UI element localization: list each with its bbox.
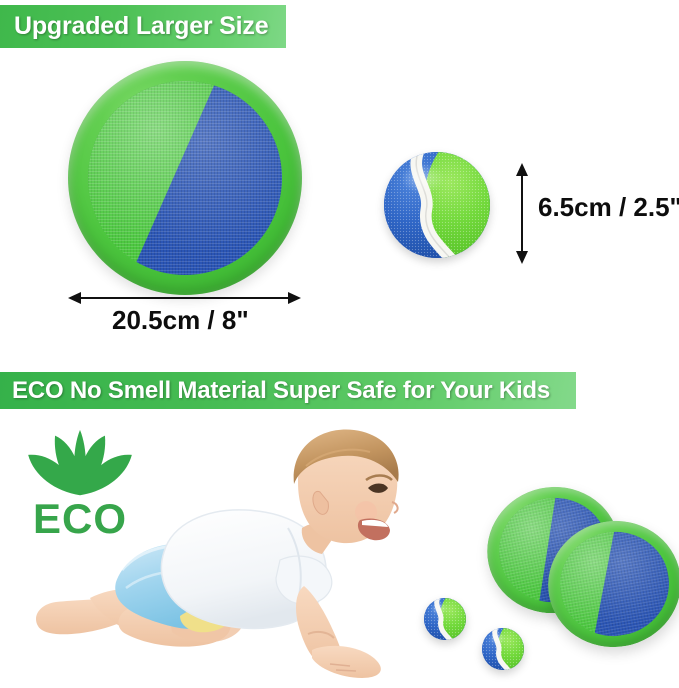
dimension-height-arrow-down-icon (516, 251, 528, 264)
dimension-width-arrow-right-icon (288, 292, 301, 304)
baby-illustration (30, 420, 405, 683)
dimension-height-arrow-up-icon (516, 163, 528, 176)
banner-upgraded-larger-size: Upgraded Larger Size (0, 5, 286, 48)
paddle-large (68, 61, 302, 295)
banner-mid-label: ECO No Smell Material Super Safe for You… (12, 377, 550, 405)
banner-top-label: Upgraded Larger Size (14, 12, 268, 41)
ball-small-1 (424, 598, 466, 640)
baby-photo (30, 420, 405, 683)
dimension-width-arrow-left-icon (68, 292, 81, 304)
ball-large (384, 152, 490, 258)
baby-right-hand (312, 646, 381, 678)
dimension-width-line (80, 297, 288, 299)
ball-small-1-highlight (431, 602, 449, 615)
paddle-small-front-face (552, 524, 677, 645)
dimension-width-label: 20.5cm / 8" (112, 305, 249, 336)
paddle-large-face (88, 81, 282, 275)
ball-small-2-highlight (489, 632, 507, 645)
dimension-height-label: 6.5cm / 2.5" (538, 192, 679, 223)
banner-eco-no-smell-material: ECO No Smell Material Super Safe for You… (0, 372, 576, 409)
ball-small-2 (482, 628, 524, 670)
dimension-height-line (521, 175, 523, 251)
